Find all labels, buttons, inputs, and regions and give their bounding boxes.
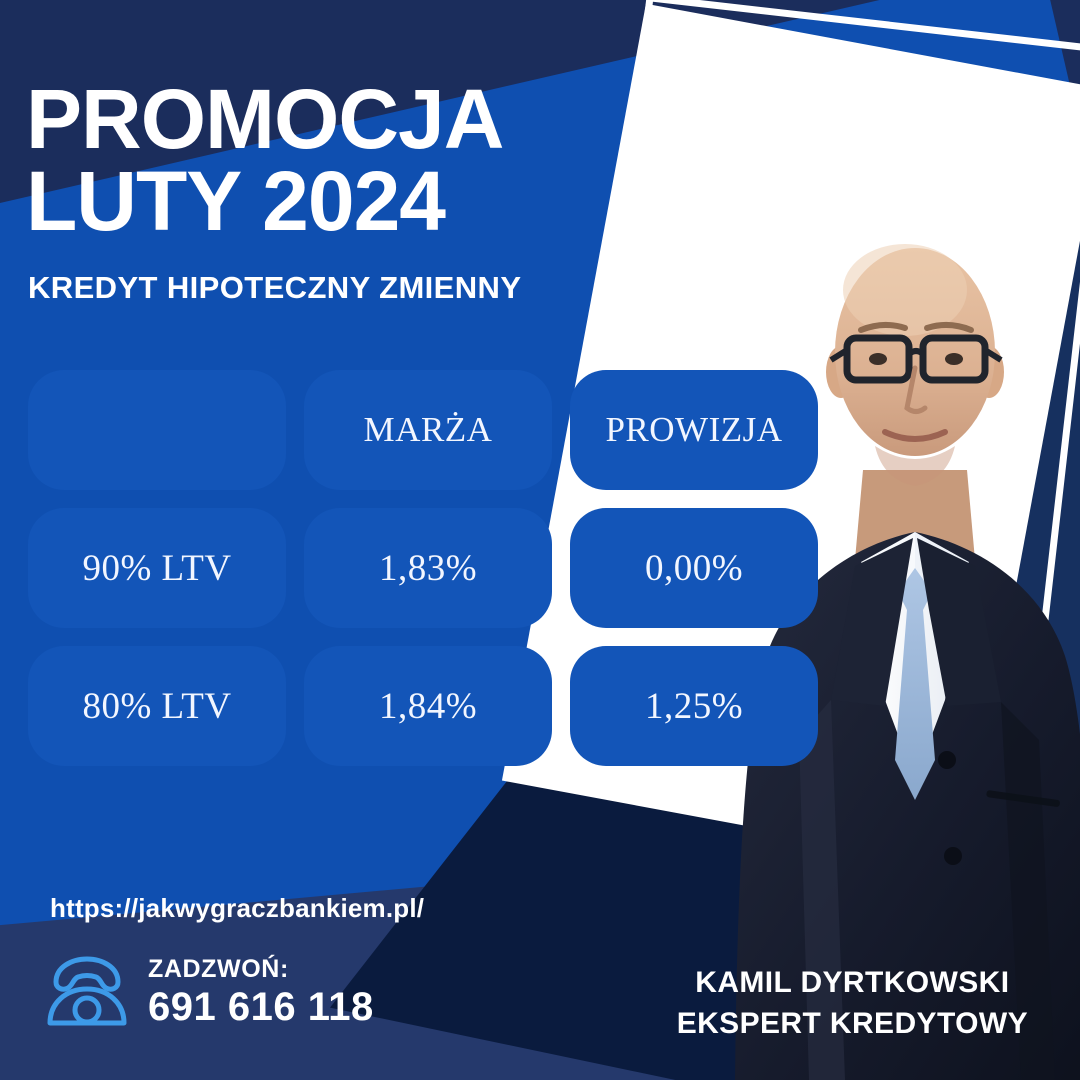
cell-marza-ltv-90: 1,83%: [304, 508, 552, 628]
column-header-prowizja: PROWIZJA: [570, 370, 818, 490]
expert-role: EKSPERT KREDYTOWY: [677, 1004, 1028, 1045]
page-title: PROMOCJA LUTY 2024: [26, 78, 646, 243]
promo-poster: PROMOCJA LUTY 2024 KREDYT HIPOTECZNY ZMI…: [0, 0, 1080, 1080]
expert-name: KAMIL DYRTKOWSKI: [677, 963, 1028, 1004]
website-url[interactable]: https://jakwygraczbankiem.pl/: [50, 893, 424, 924]
call-block[interactable]: ZADZWOŃ: 691 616 118: [44, 955, 374, 1029]
phone-number[interactable]: 691 616 118: [148, 986, 374, 1028]
column-header-marza: MARŻA: [304, 370, 552, 490]
row-label-ltv-80: 80% LTV: [28, 646, 286, 766]
title-line-1: PROMOCJA: [26, 72, 503, 166]
cell-prowizja-ltv-80: 1,25%: [570, 646, 818, 766]
page-subtitle: KREDYT HIPOTECZNY ZMIENNY: [28, 270, 521, 306]
table-corner-cell: [28, 370, 286, 490]
title-line-2: LUTY 2024: [26, 160, 646, 242]
signature-block: KAMIL DYRTKOWSKI EKSPERT KREDYTOWY: [677, 963, 1028, 1044]
cell-prowizja-ltv-90: 0,00%: [570, 508, 818, 628]
rates-table: MARŻA PROWIZJA 90% LTV 1,83% 0,00% 80% L…: [28, 370, 818, 766]
call-label: ZADZWOŃ:: [148, 956, 374, 982]
cell-marza-ltv-80: 1,84%: [304, 646, 552, 766]
call-text: ZADZWOŃ: 691 616 118: [148, 956, 374, 1028]
row-label-ltv-90: 90% LTV: [28, 508, 286, 628]
rotary-phone-icon: [44, 955, 130, 1029]
